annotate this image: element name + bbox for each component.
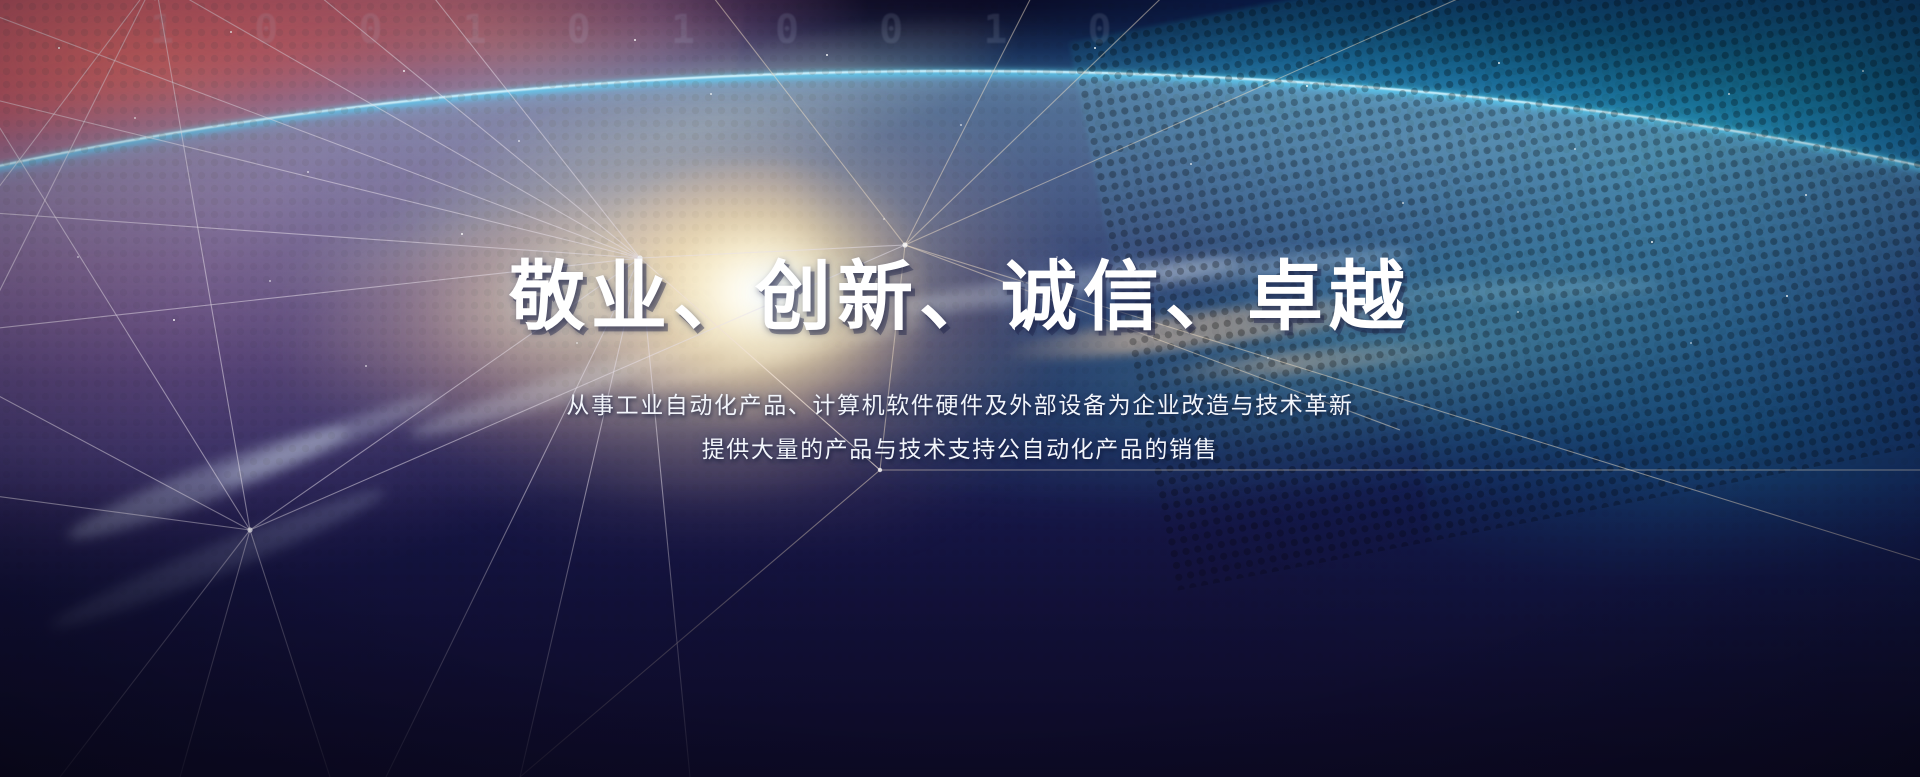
hero-banner: 1 0 0 1 0 1 0 0 1 0 敬业、创新、诚信、卓越 从事工业自动化产… xyxy=(0,0,1920,777)
hero-copy-block: 敬业、创新、诚信、卓越 从事工业自动化产品、计算机软件硬件及外部设备为企业改造与… xyxy=(0,258,1920,472)
hero-subtitle-line-2: 提供大量的产品与技术支持公自动化产品的销售 xyxy=(0,427,1920,472)
hero-headline: 敬业、创新、诚信、卓越 xyxy=(0,258,1920,339)
cloud-wisp xyxy=(46,478,391,641)
hero-subtitle-line-1: 从事工业自动化产品、计算机软件硬件及外部设备为企业改造与技术革新 xyxy=(0,383,1920,428)
binary-digits-decor: 1 0 0 1 0 1 0 0 1 0 xyxy=(0,4,1920,56)
hero-subtitle: 从事工业自动化产品、计算机软件硬件及外部设备为企业改造与技术革新 提供大量的产品… xyxy=(0,383,1920,473)
